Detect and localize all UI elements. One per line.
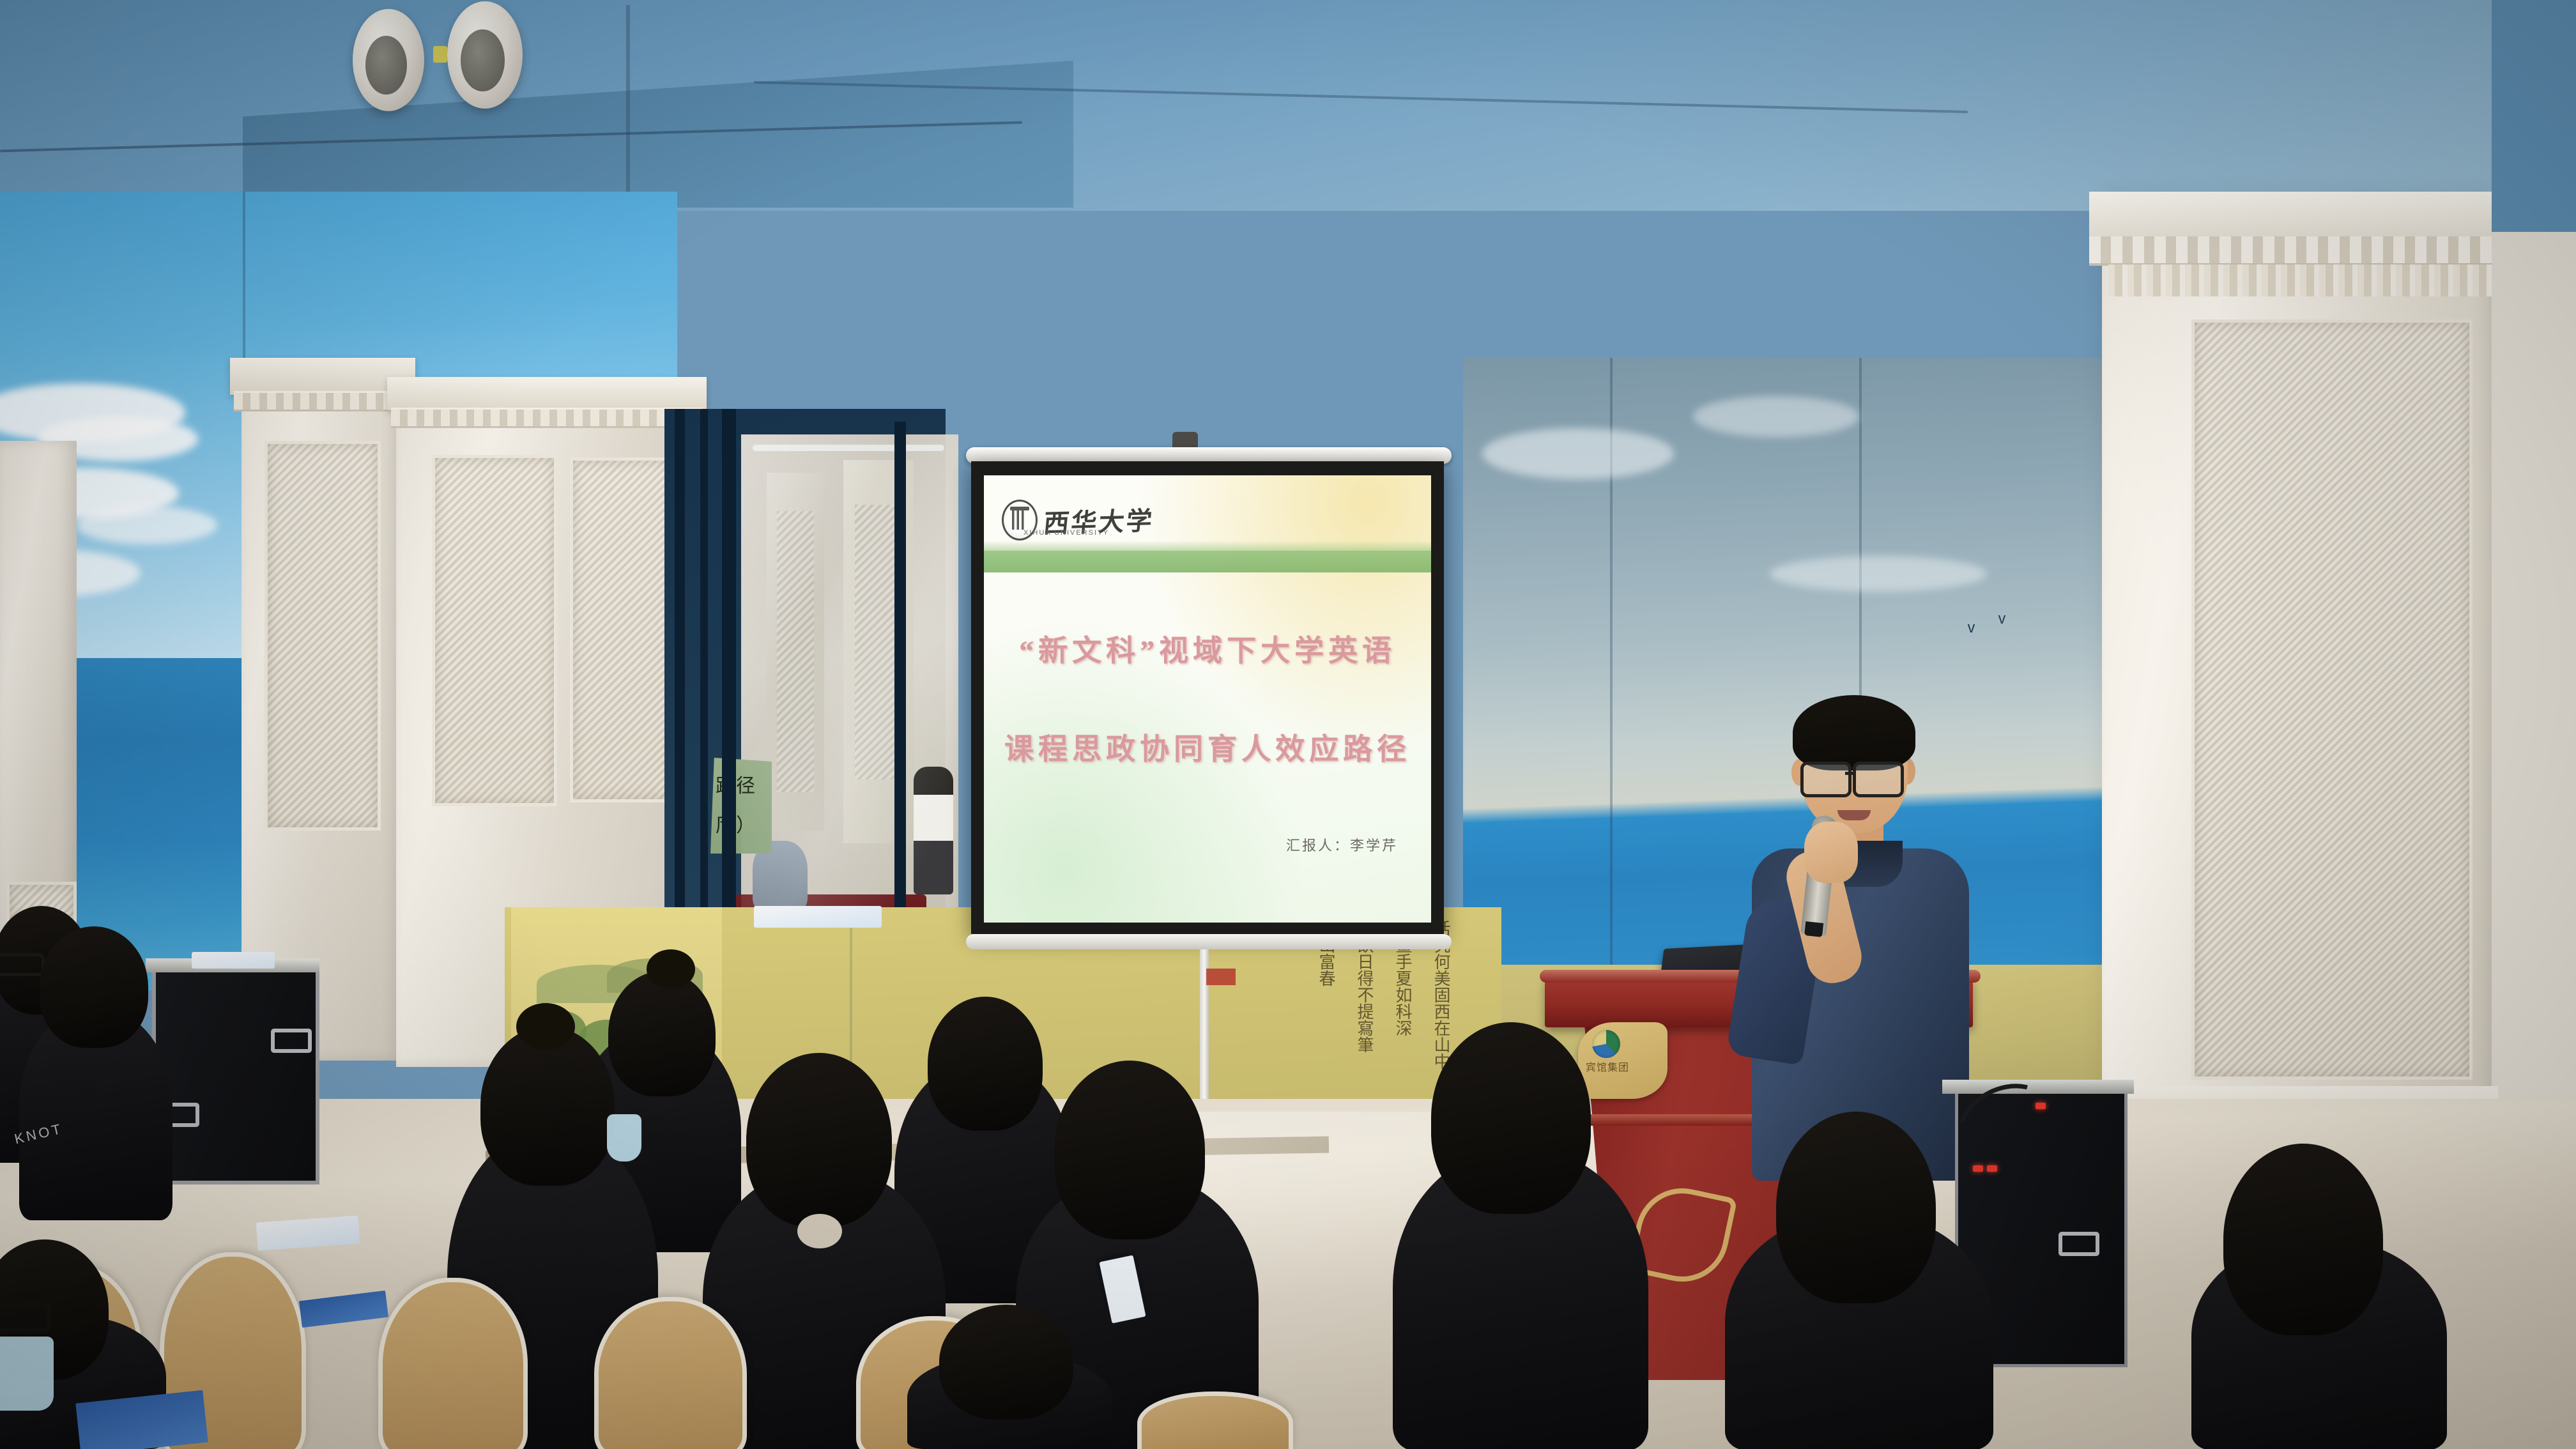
eyeglasses-icon [1800, 762, 1851, 797]
eyeglasses-icon [0, 953, 45, 976]
presenter-hand [1804, 822, 1858, 883]
university-wordmark-english: XIHUA UNIVERSITY [1023, 529, 1109, 537]
audience-head [1776, 1112, 1936, 1303]
hair-bun [516, 1003, 575, 1050]
seagull-icon: ᵛ [1968, 620, 1975, 641]
column-scroll-molding [2108, 264, 2530, 296]
screen-bottom-bar [966, 934, 1452, 949]
column-carved-panel [432, 455, 557, 806]
phone-screen [1099, 1255, 1146, 1324]
slide-presenter-credit: 汇报人：李学芹 [1286, 834, 1398, 855]
eyeglasses-icon [0, 1302, 51, 1333]
audience-head [746, 1053, 892, 1227]
papers-on-case [192, 952, 275, 969]
ceiling-seam [626, 5, 630, 216]
presenter-hair [1793, 695, 1915, 770]
audience-head [939, 1305, 1073, 1420]
presenter-mouth [1837, 810, 1871, 820]
hair-tie [797, 1214, 842, 1248]
tripod-label [1206, 969, 1236, 985]
column-carved-panel [264, 441, 381, 831]
audience-head [40, 926, 148, 1048]
eyeglasses-icon [1853, 762, 1904, 797]
face-mask [607, 1114, 641, 1161]
banquet-chair[interactable] [378, 1278, 528, 1449]
podium-plaque: 宾馆集团 [1578, 1022, 1667, 1099]
banquet-chair[interactable] [594, 1297, 747, 1449]
audience-head [928, 997, 1043, 1131]
presentation-slide: 西华大学 XIHUA UNIVERSITY “新文科”视域下大学英语 课程思政协… [984, 475, 1431, 923]
banquet-chair[interactable] [1137, 1391, 1293, 1449]
handout[interactable] [754, 906, 882, 928]
case-handle[interactable] [271, 1029, 312, 1053]
column-carved-band [234, 391, 413, 411]
microphone-base [1804, 921, 1823, 937]
column-carved-band [391, 408, 703, 428]
slide-title-line-2: 课程思政协同育人效应路径 [984, 726, 1431, 768]
audience-head [2223, 1144, 2383, 1335]
ceiling-speaker-icon [447, 1, 523, 109]
ceiling-speaker-icon [353, 9, 424, 111]
eyeglasses-bridge [1845, 772, 1854, 775]
hair-bun [647, 949, 695, 989]
venue-logo-icon [1592, 1030, 1620, 1058]
ceiling-marker-icon [433, 46, 447, 63]
audience-head [1431, 1022, 1591, 1214]
column-capital [387, 377, 707, 410]
slide-title-line-1: “新文科”视域下大学英语 [984, 627, 1431, 670]
seagull-icon: ᵛ [1998, 611, 2005, 632]
conference-photo-scene: 路径 厅） ᵛ ᵛ 溪山富春 紅飲日得不提寫筆 覺畫手夏如科深 话究何美固西在山… [0, 0, 2576, 1449]
slide-accent-bar [984, 551, 1431, 572]
audience-head [1054, 1061, 1205, 1239]
column-egg-dart-molding [2089, 236, 2536, 266]
face-mask [0, 1337, 54, 1411]
case-handle[interactable] [2058, 1232, 2099, 1256]
audience-head [608, 971, 716, 1096]
flight-case-left [152, 966, 319, 1184]
podium-plaque-caption: 宾馆集团 [1586, 1062, 1660, 1075]
column-carved-panel [2191, 319, 2472, 1080]
